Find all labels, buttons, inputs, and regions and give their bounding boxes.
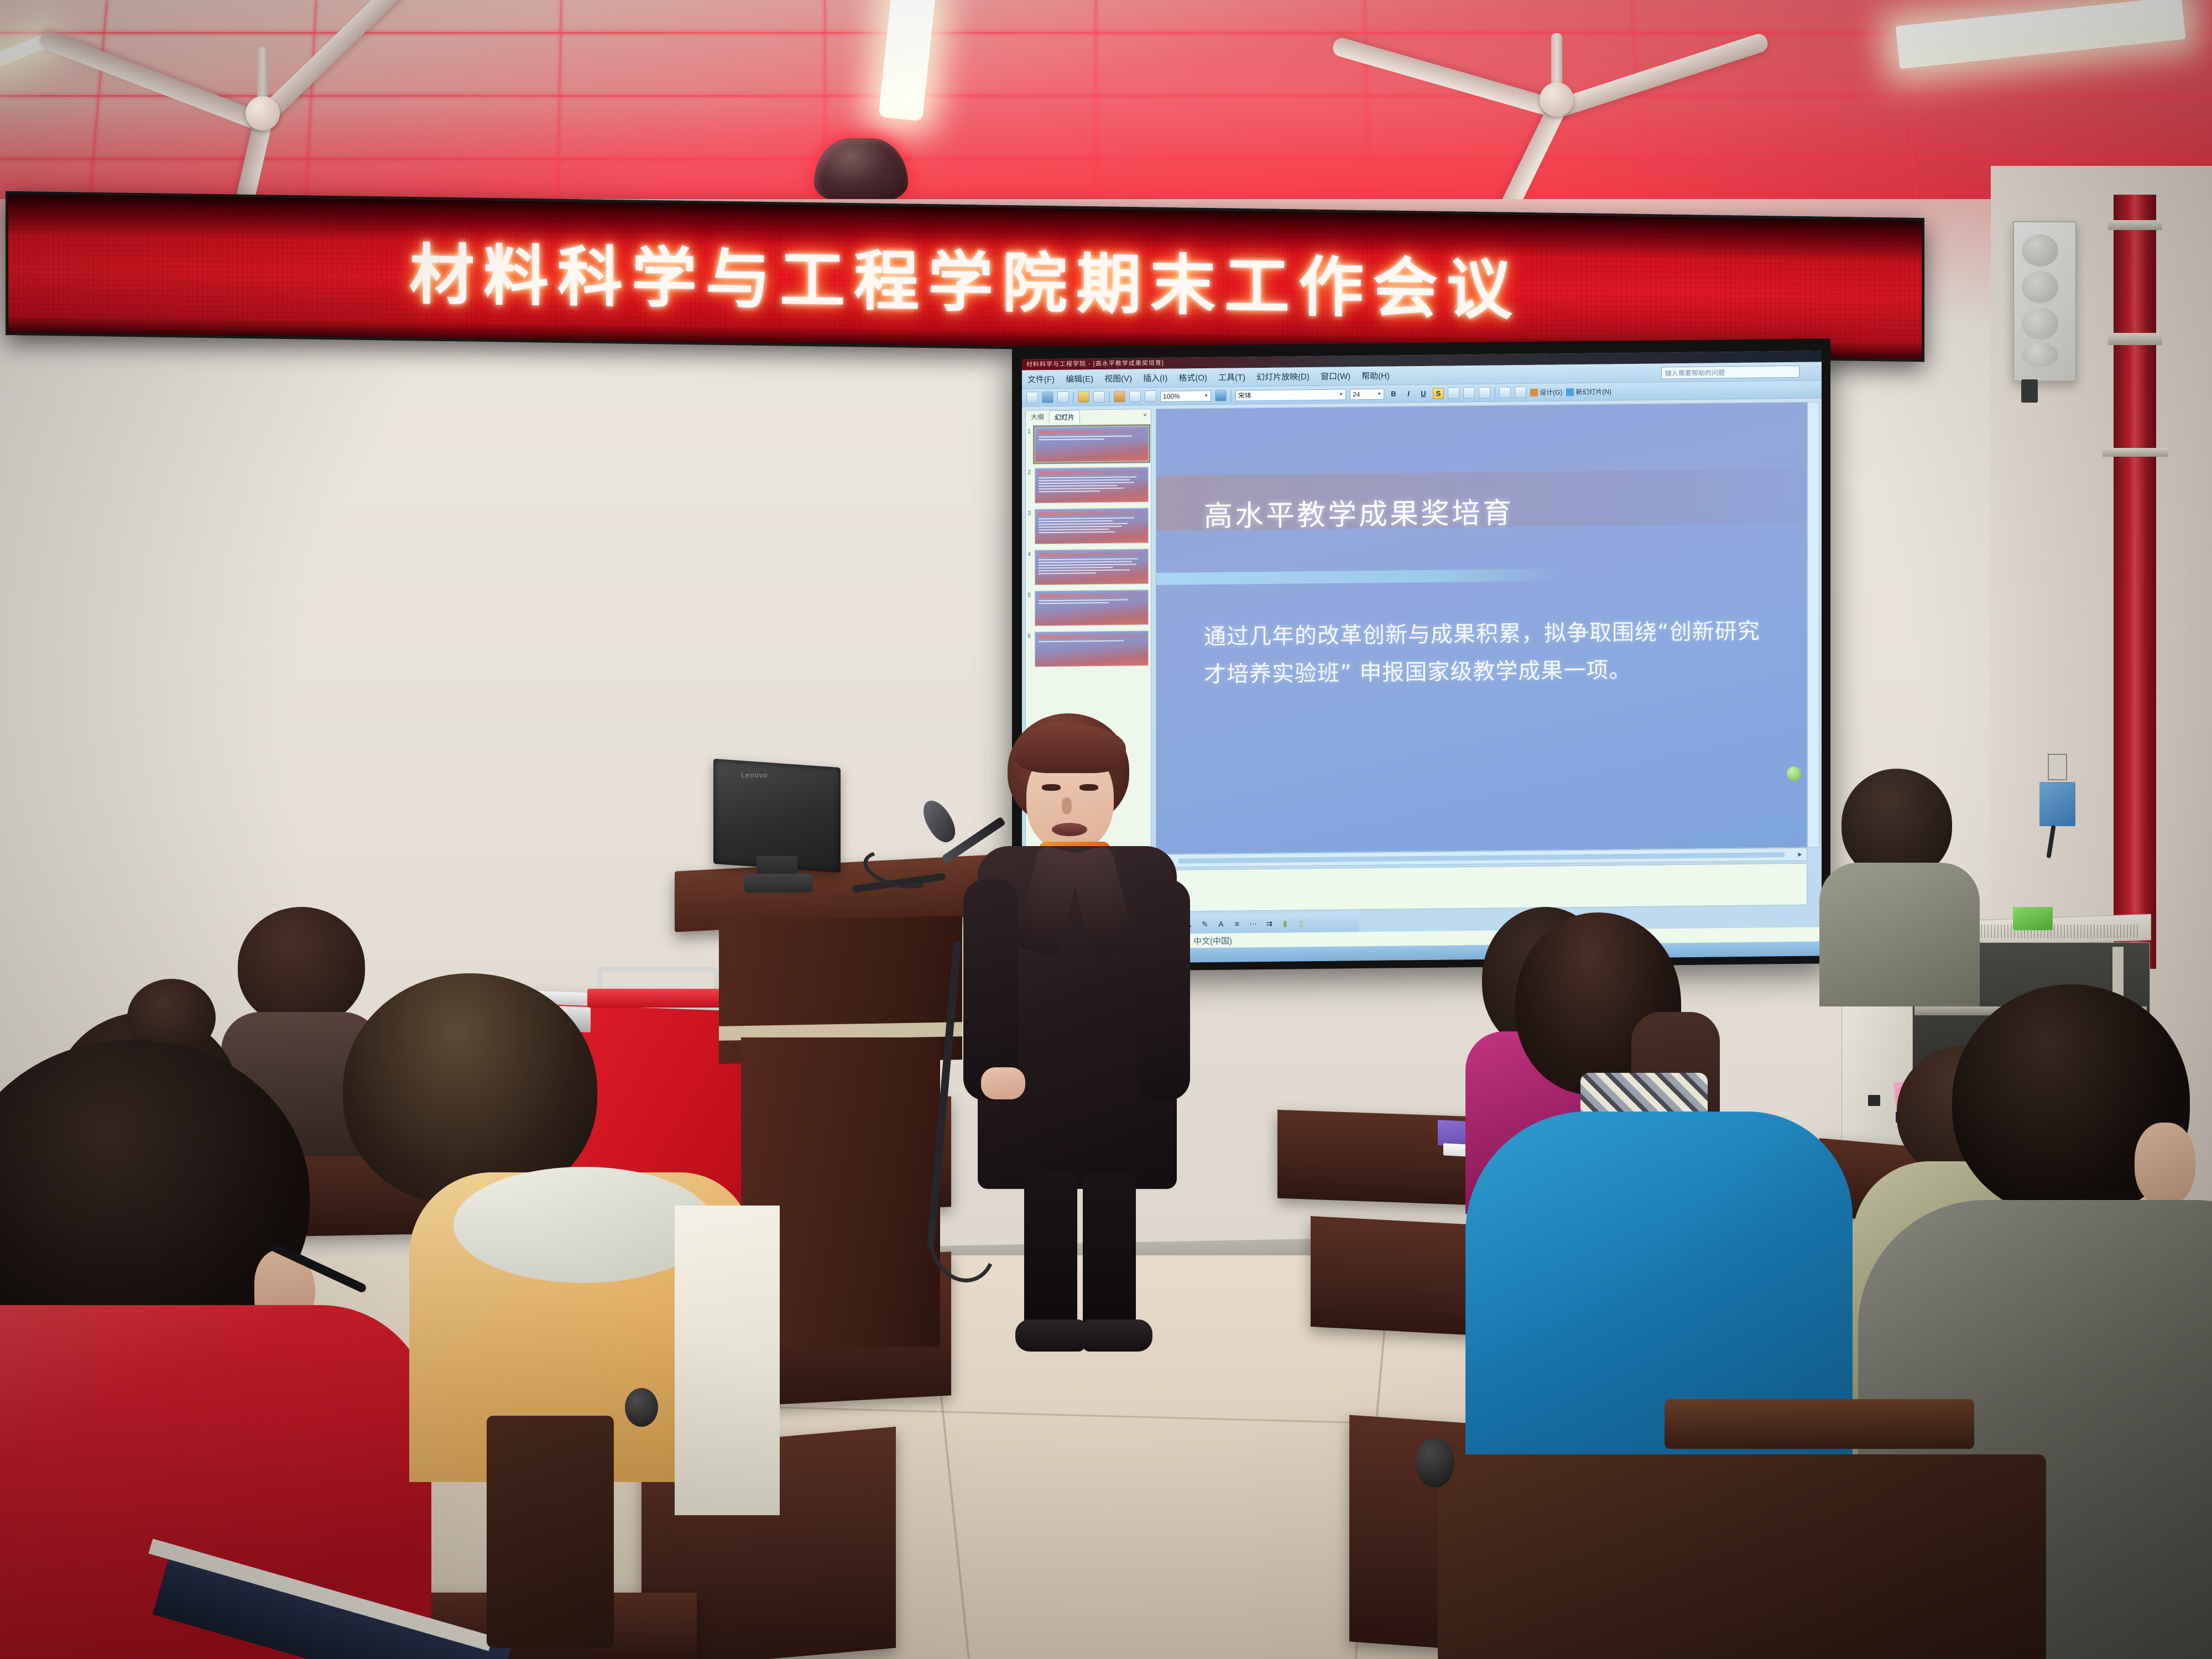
presenter-mouth <box>1052 823 1087 836</box>
dome-camera-icon <box>814 138 908 202</box>
slide-editing-area[interactable]: 高水平教学成果奖培育 通过几年的改革创新与成果积累，拟争取围绕“创新研究 才培养… <box>1156 402 1807 854</box>
demote-icon[interactable] <box>1515 387 1526 398</box>
list-item[interactable]: 1 <box>1035 426 1149 462</box>
pipe-ring-top <box>2108 220 2162 230</box>
design-label: 设计(G) <box>1540 387 1562 397</box>
font-size-combo[interactable]: 24 ▼ <box>1350 388 1384 400</box>
menu-item-tools[interactable]: 工具(T) <box>1218 371 1245 383</box>
slide-thumbnail[interactable] <box>1035 508 1149 544</box>
wall-outlet-box[interactable] <box>2039 782 2075 826</box>
menu-item-window[interactable]: 窗口(W) <box>1321 370 1350 382</box>
menu-item-file[interactable]: 文件(F) <box>1027 373 1055 385</box>
promote-icon[interactable] <box>1499 387 1511 398</box>
undo-icon[interactable] <box>1129 390 1141 402</box>
italic-button[interactable]: I <box>1403 388 1414 399</box>
slide-body-line-2: 才培养实验班” 申报国家级教学成果一项。 <box>1204 651 1807 692</box>
slide-decoration-dot <box>1787 766 1801 781</box>
tab-outline[interactable]: 大纲 <box>1026 410 1049 424</box>
chair-back-right <box>1438 1454 2046 1659</box>
slide-thumbnail[interactable] <box>1035 549 1149 585</box>
shadow-style-icon[interactable]: ▮ <box>1280 917 1291 928</box>
zoom-combo[interactable]: 100% ▼ <box>1160 390 1211 401</box>
green-box <box>2013 907 2053 930</box>
menu-item-slideshow[interactable]: 幻灯片放映(D) <box>1256 371 1310 383</box>
rack-door-lock[interactable] <box>1868 1095 1880 1106</box>
text-shadow-button[interactable]: S <box>1433 388 1444 399</box>
led-banner: 材料科学与工程学院期末工作会议 <box>6 191 1924 362</box>
thumbnail-number: 3 <box>1027 510 1031 517</box>
line-color-icon[interactable]: ✎ <box>1199 919 1211 930</box>
font-grow-icon[interactable] <box>1479 387 1490 399</box>
slide-thumbnail[interactable] <box>1035 630 1149 667</box>
podium-monitor: Lenovo <box>713 763 852 890</box>
presenter <box>973 713 1194 1349</box>
list-item[interactable]: 6 <box>1035 630 1149 667</box>
current-slide: 高水平教学成果奖培育 通过几年的改革创新与成果积累，拟争取围绕“创新研究 才培养… <box>1156 403 1807 854</box>
slide-thumbnail[interactable] <box>1035 426 1149 462</box>
font-name-value: 宋体 <box>1238 390 1251 400</box>
slide-thumbnail[interactable] <box>1035 467 1149 503</box>
font-size-value: 24 <box>1353 390 1360 398</box>
slide-vertical-scrollbar[interactable] <box>1807 401 1819 847</box>
presenter-eye-left <box>1042 784 1061 791</box>
thumbnail-number: 1 <box>1027 428 1031 435</box>
speaker-mount-bracket <box>2021 379 2038 403</box>
save-icon[interactable] <box>1042 392 1053 403</box>
presenter-arm-right <box>1137 879 1190 1100</box>
menu-item-format[interactable]: 格式(O) <box>1178 372 1207 384</box>
thumbnail-number: 4 <box>1027 551 1031 557</box>
chair-knob-right <box>1416 1438 1454 1488</box>
underline-button[interactable]: U <box>1418 388 1429 399</box>
close-icon[interactable]: × <box>1139 409 1151 422</box>
menu-item-help[interactable]: 帮助(H) <box>1361 370 1390 382</box>
presenter-leg-right <box>1083 1172 1136 1338</box>
new-file-icon[interactable] <box>1026 392 1038 403</box>
chair-knob <box>625 1388 658 1427</box>
menu-item-view[interactable]: 视图(V) <box>1104 372 1132 384</box>
new-slide-button[interactable]: 新幻灯片(N) <box>1566 387 1611 397</box>
chevron-down-icon[interactable]: ▼ <box>1339 392 1343 397</box>
arrow-style-icon[interactable]: ⇉ <box>1264 918 1275 929</box>
align-center-icon[interactable] <box>1463 387 1475 399</box>
thumbnail-number: 2 <box>1027 469 1031 476</box>
font-color-icon[interactable]: A <box>1215 919 1227 930</box>
bold-button[interactable]: B <box>1388 388 1399 399</box>
attendee-ear <box>2135 1123 2195 1206</box>
attendee-white-shirt <box>675 1206 780 1515</box>
list-item[interactable]: 4 <box>1035 549 1149 585</box>
align-left-icon[interactable] <box>1448 387 1459 399</box>
paste-icon[interactable] <box>1114 391 1125 403</box>
ceiling <box>0 0 2212 216</box>
chair-back-left <box>487 1416 614 1648</box>
3d-style-icon[interactable]: ▯ <box>1296 917 1307 928</box>
thumbnail-number: 6 <box>1027 633 1031 639</box>
wall-box-lid <box>2048 754 2067 780</box>
line-style-icon[interactable]: ≡ <box>1232 918 1243 929</box>
slide-title: 高水平教学成果奖培育 <box>1204 489 1514 534</box>
list-item[interactable]: 2 <box>1035 467 1149 503</box>
panel-tab-bar[interactable]: 大纲 幻灯片 × <box>1026 409 1151 424</box>
cut-icon[interactable] <box>1078 391 1089 403</box>
presenter-nose <box>1062 797 1072 814</box>
table-icon[interactable] <box>1145 390 1156 402</box>
thumbnail-list[interactable]: 1 2 3 <box>1026 422 1151 670</box>
list-item[interactable]: 5 <box>1035 589 1149 626</box>
presenter-shoe-left <box>1015 1319 1085 1352</box>
ask-a-question-input[interactable]: 键入需要帮助的问题 <box>1661 366 1799 379</box>
slide-body-line-1: 通过几年的改革创新与成果积累，拟争取围绕“创新研究 <box>1204 613 1807 655</box>
language-indicator: 中文(中国) <box>1193 935 1232 947</box>
help-icon[interactable] <box>1215 390 1227 401</box>
design-button[interactable]: 设计(G) <box>1530 387 1562 397</box>
chevron-down-icon[interactable]: ▼ <box>1377 392 1381 397</box>
menu-item-edit[interactable]: 编辑(E) <box>1066 373 1093 385</box>
list-item[interactable]: 3 <box>1035 508 1149 544</box>
pipe-ring-bottom <box>2103 448 2168 457</box>
presenter-fringe <box>1015 724 1126 773</box>
chevron-down-icon[interactable]: ▼ <box>1204 393 1208 398</box>
menu-item-insert[interactable]: 插入(I) <box>1143 372 1167 384</box>
fire-sprinkler-pipe <box>2114 195 2156 969</box>
attendee-far-right-coat <box>1819 863 1980 1006</box>
presenter-shoe-right <box>1083 1319 1152 1352</box>
print-icon[interactable] <box>1057 392 1069 403</box>
lecture-room-photo: 材料科学与工程学院期末工作会议 材料科学与工程学院 - [高水平教学成果奖培育]… <box>0 0 2212 1659</box>
wall-speaker <box>2013 221 2077 382</box>
presenter-hand-left <box>981 1067 1025 1099</box>
ceiling-fan-left <box>260 111 265 116</box>
new-slide-label: 新幻灯片(N) <box>1575 387 1611 397</box>
desk-edge-right <box>1665 1399 1974 1449</box>
tab-slides[interactable]: 幻灯片 <box>1049 410 1080 424</box>
ceiling-fan-right <box>1554 97 1559 102</box>
monitor-brand-label: Lenovo <box>741 771 768 779</box>
copy-icon[interactable] <box>1093 391 1105 403</box>
slide-thumbnail[interactable] <box>1035 589 1149 626</box>
pipe-ring-middle <box>2108 333 2162 345</box>
zoom-value: 100% <box>1163 392 1180 400</box>
presenter-leg-left <box>1024 1172 1077 1338</box>
font-name-combo[interactable]: 宋体 ▼ <box>1235 389 1346 401</box>
thumbnail-number: 5 <box>1027 592 1031 598</box>
dash-style-icon[interactable]: ⋯ <box>1248 918 1259 929</box>
presenter-eye-right <box>1079 784 1098 791</box>
